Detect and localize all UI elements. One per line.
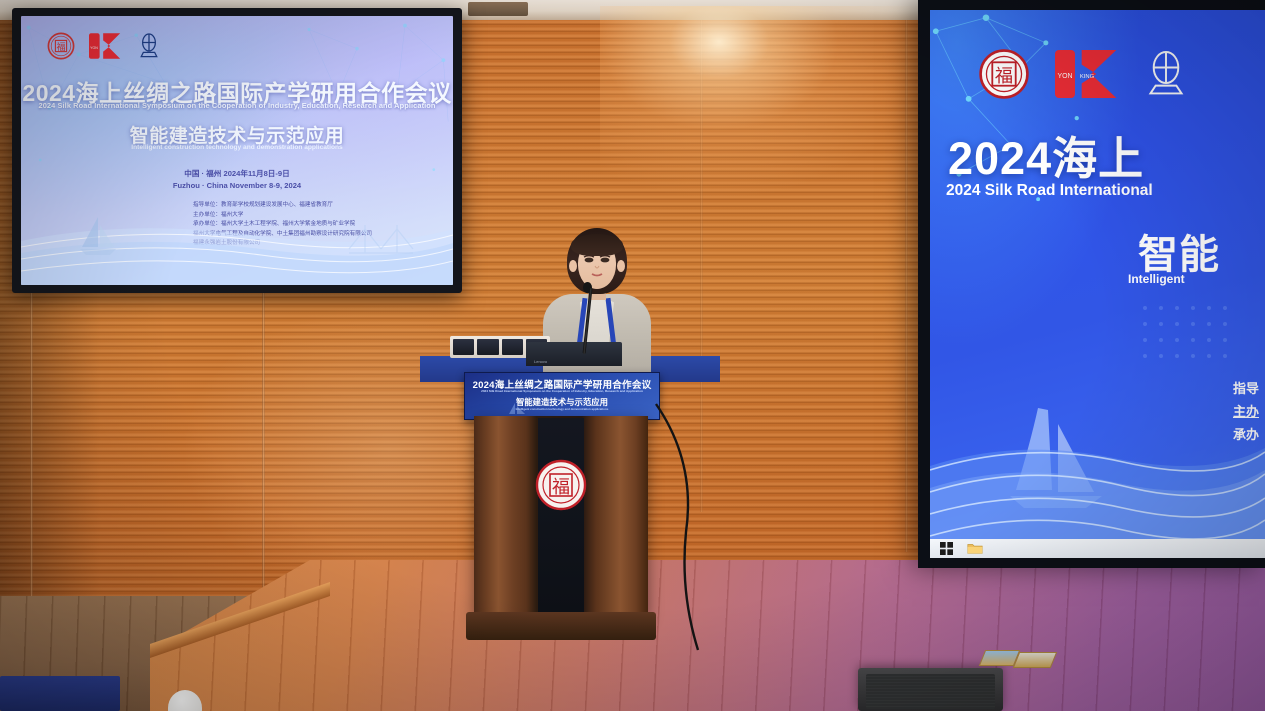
notebook	[1013, 652, 1057, 668]
cccc-logo-icon	[137, 33, 161, 59]
podium-banner-subtitle-en: Intelligent construction technology and …	[465, 407, 659, 411]
fuzhou-university-seal-icon: 福	[47, 32, 75, 60]
cable	[652, 402, 722, 652]
lenovo-laptop[interactable]: Lenovo	[526, 342, 622, 366]
svg-text:福: 福	[56, 41, 65, 53]
left-screen-subtitle-en: Intelligent construction technology and …	[21, 144, 453, 151]
laptop-brand-label: Lenovo	[534, 359, 547, 364]
speaker-hair-front	[571, 234, 623, 256]
blue-chair	[0, 676, 120, 711]
start-button-icon[interactable]	[940, 542, 953, 555]
right-led-screen: 福 YON KING 2024海上 2024 Silk Road	[918, 0, 1265, 568]
halftone-dots	[1139, 302, 1235, 372]
left-screen-title-en: 2024 Silk Road International Symposium o…	[21, 101, 453, 110]
control-button[interactable]	[453, 339, 474, 355]
svg-text:KING: KING	[1080, 74, 1095, 80]
file-explorer-icon[interactable]	[967, 542, 983, 555]
right-screen-title-en: 2024 Silk Road International	[946, 182, 1153, 200]
left-screen-date: 中国 · 福州 2024年11月8日-9日 Fuzhou · China Nov…	[21, 168, 453, 192]
right-screen-title-cn: 2024海上	[948, 122, 1144, 187]
sailboat-icon	[76, 215, 120, 259]
podium-banner: 2024海上丝绸之路国际产学研用合作会议 2024 Silk Road Inte…	[464, 372, 660, 420]
fuzhou-university-seal-icon: 福	[978, 48, 1030, 100]
control-button[interactable]	[502, 339, 523, 355]
wall-seam	[905, 12, 908, 552]
podium-base	[466, 612, 656, 640]
svg-text:福: 福	[552, 477, 570, 498]
speaker-ear	[617, 260, 625, 272]
yonking-k-logo-icon: YON KING	[1054, 50, 1120, 98]
svg-text:福: 福	[995, 66, 1013, 87]
left-screen-logos: 福 YON	[47, 32, 161, 60]
speaker-facial-features	[578, 254, 616, 280]
right-screen-logos: 福 YON KING	[978, 48, 1188, 100]
fuzhou-university-seal-icon: 福	[534, 458, 588, 512]
wave-graphic	[930, 408, 1265, 558]
svg-text:YON: YON	[90, 46, 98, 50]
cccc-logo-icon	[1144, 50, 1188, 98]
right-screen-subtitle-en: Intelligent	[1128, 272, 1185, 286]
speaker-ear	[569, 260, 577, 272]
lectern-podium: Lenovo 2024海上丝绸之路国际产学研用合作会议 2024 Silk Ro…	[464, 362, 658, 684]
conference-hall-scene: 福 YON 2024海上丝绸之路国际产学研用合作会议 2024 Silk Roa…	[0, 0, 1265, 711]
speaker-grill	[866, 674, 995, 709]
podium-center-panel	[538, 418, 584, 614]
yonking-k-logo-icon: YON	[89, 33, 123, 59]
ceiling-vent	[468, 2, 528, 16]
svg-text:YON: YON	[1058, 73, 1073, 80]
control-button[interactable]	[477, 339, 498, 355]
windows-taskbar[interactable]	[930, 539, 1265, 558]
stage-floor-monitor	[858, 668, 1003, 711]
podium-banner-title-en: 2024 Silk Road International Symposium o…	[465, 389, 659, 393]
left-projection-screen: 福 YON 2024海上丝绸之路国际产学研用合作会议 2024 Silk Roa…	[12, 8, 462, 293]
bridge-icon	[345, 219, 417, 261]
